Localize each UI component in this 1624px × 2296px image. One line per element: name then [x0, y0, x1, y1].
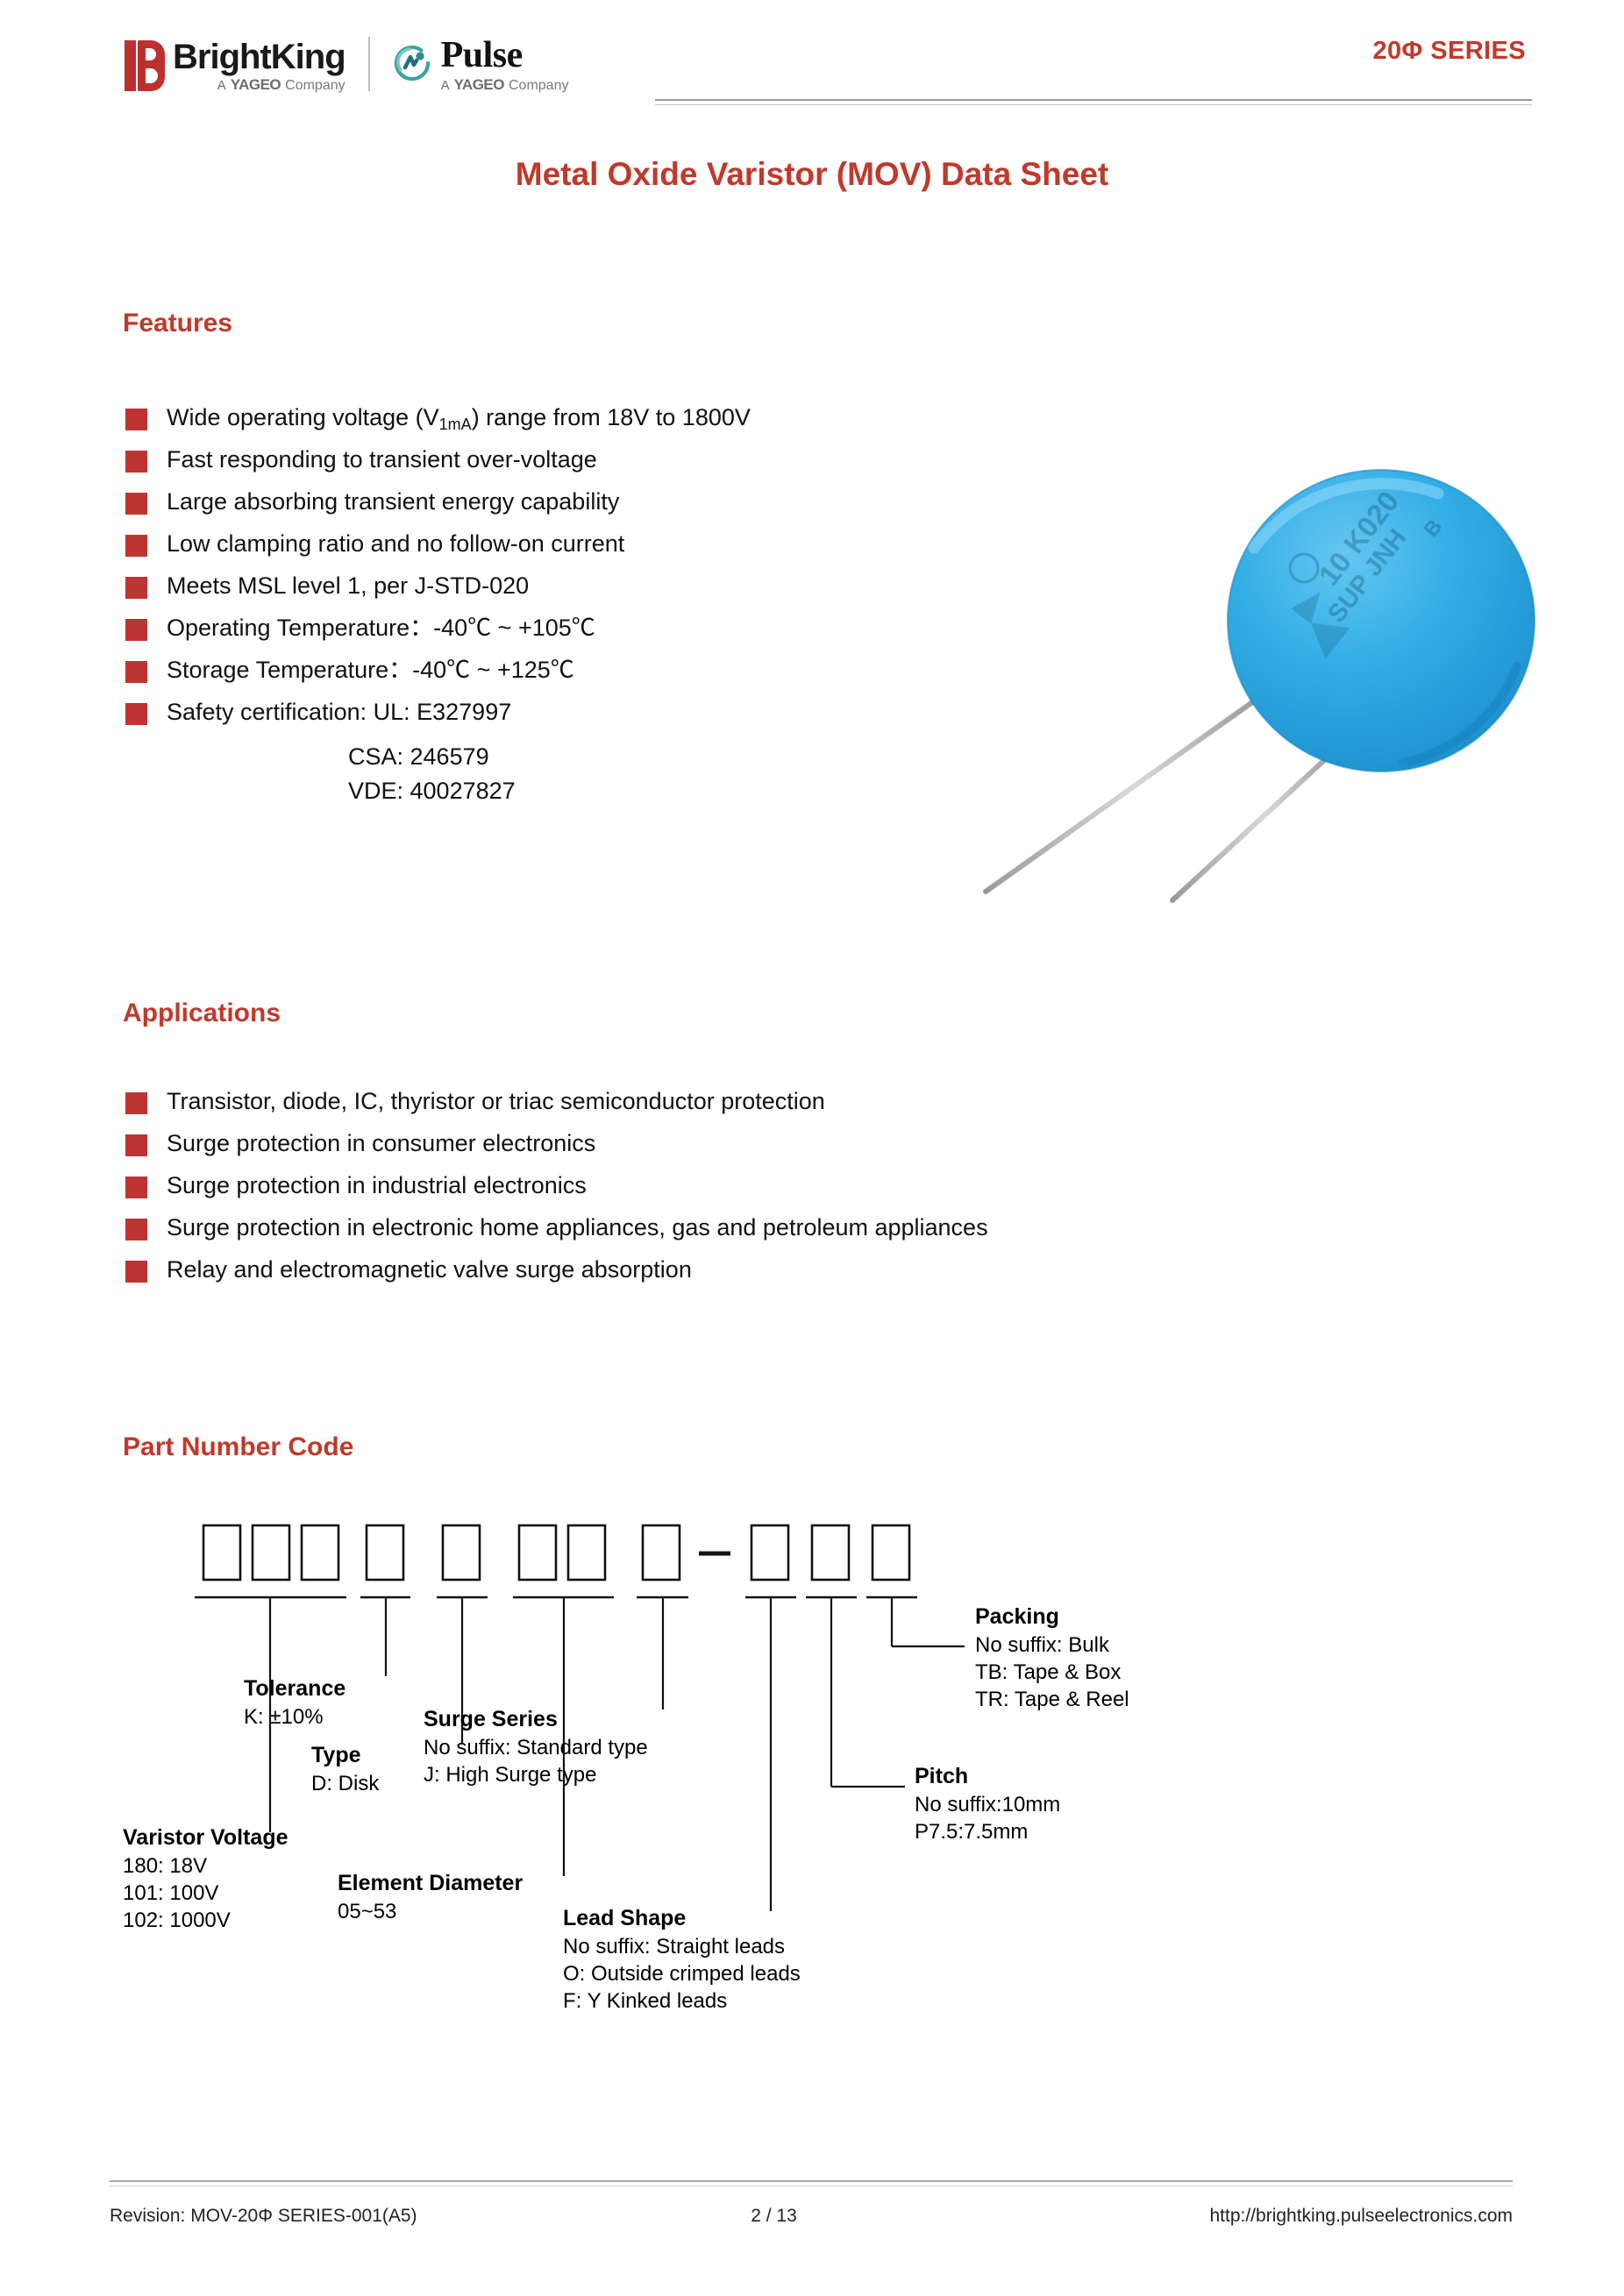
- footer-divider-line: [110, 2180, 1513, 2182]
- product-photo-varistor: 10 K020 SUP JNH B: [956, 465, 1596, 942]
- footer-divider-line-secondary: [110, 2186, 1513, 2186]
- brightking-yageo-badge: YAGEO: [231, 76, 281, 94]
- pulse-name: Pulse: [441, 39, 569, 74]
- bullet-square-icon: [125, 577, 147, 599]
- certification-csa: CSA: 246579: [348, 740, 751, 774]
- page-header: BrightKing A YAGEO Company Pu: [0, 0, 1624, 132]
- brightking-name: BrightKing: [173, 40, 345, 74]
- callout-surge-series: Surge Series No suffix: Standard type J:…: [424, 1705, 648, 1788]
- bullet-square-icon: [125, 1219, 147, 1240]
- feature-text: Safety certification: UL: E327997: [167, 698, 511, 727]
- bullet-square-icon: [125, 1134, 147, 1156]
- brightking-logo: BrightKing A YAGEO Company: [125, 40, 345, 94]
- pulse-yageo-line: A YAGEO Company: [441, 76, 569, 94]
- pulse-yageo-company: Company: [509, 78, 568, 94]
- page-title: Metal Oxide Varistor (MOV) Data Sheet: [0, 156, 1624, 193]
- list-item: Surge protection in consumer electronics: [125, 1129, 988, 1164]
- list-item: Low clamping ratio and no follow-on curr…: [125, 530, 751, 565]
- footer-page-number: 2 / 13: [751, 2206, 797, 2227]
- logo-group: BrightKing A YAGEO Company Pu: [125, 37, 568, 94]
- bullet-square-icon: [125, 409, 147, 430]
- pulse-logo: Pulse A YAGEO Company: [389, 39, 569, 94]
- part-number-code-heading: Part Number Code: [123, 1432, 353, 1462]
- feature-text: Operating Temperature：-40℃ ~ +105℃: [167, 614, 595, 643]
- feature-text: Fast responding to transient over-voltag…: [167, 445, 597, 474]
- part-number-code-diagram: Varistor Voltage 180: 18V 101: 100V 102:…: [0, 1490, 1624, 2157]
- list-item: Meets MSL level 1, per J-STD-020: [125, 572, 751, 607]
- list-item: Surge protection in industrial electroni…: [125, 1171, 988, 1206]
- application-text: Surge protection in industrial electroni…: [167, 1171, 587, 1200]
- pulse-yageo-badge: YAGEO: [454, 76, 504, 94]
- callout-varistor-voltage: Varistor Voltage 180: 18V 101: 100V 102:…: [123, 1823, 288, 1934]
- bullet-square-icon: [125, 619, 147, 641]
- callout-tolerance: Tolerance K: ±10%: [244, 1674, 345, 1731]
- applications-heading: Applications: [123, 999, 281, 1028]
- pulse-wordmark: Pulse A YAGEO Company: [441, 39, 569, 94]
- callout-packing: Packing No suffix: Bulk TB: Tape & Box T…: [975, 1603, 1129, 1713]
- feature-text: Large absorbing transient energy capabil…: [167, 487, 619, 516]
- application-text: Relay and electromagnetic valve surge ab…: [167, 1255, 692, 1284]
- pulse-yageo-a: A: [441, 78, 450, 93]
- feature-text: Storage Temperature：-40℃ ~ +125℃: [167, 656, 574, 685]
- list-item: Transistor, diode, IC, thyristor or tria…: [125, 1087, 988, 1122]
- page-footer: Revision: MOV-20Φ SERIES-001(A5) 2 / 13 …: [110, 2206, 1513, 2227]
- callout-lead-shape: Lead Shape No suffix: Straight leads O: …: [563, 1904, 801, 2015]
- callout-pitch: Pitch No suffix:10mm P7.5:7.5mm: [915, 1762, 1060, 1845]
- list-item: Relay and electromagnetic valve surge ab…: [125, 1255, 988, 1290]
- list-item: Safety certification: UL: E327997: [125, 698, 751, 733]
- callout-element-diameter: Element Diameter 05~53: [338, 1869, 523, 1925]
- bullet-square-icon: [125, 661, 147, 683]
- brightking-yageo-company: Company: [285, 78, 345, 94]
- brightking-wordmark: BrightKing A YAGEO Company: [173, 40, 345, 94]
- footer-url[interactable]: http://brightking.pulseelectronics.com: [1209, 2206, 1513, 2227]
- datasheet-page: BrightKing A YAGEO Company Pu: [0, 0, 1624, 2296]
- series-label: 20Φ SERIES: [1373, 37, 1527, 66]
- features-list: Wide operating voltage (V1mA) range from…: [125, 403, 751, 809]
- logo-divider: [368, 37, 370, 91]
- brightking-yageo-a: A: [217, 78, 226, 93]
- feature-text: Low clamping ratio and no follow-on curr…: [167, 530, 624, 558]
- applications-list: Transistor, diode, IC, thyristor or tria…: [125, 1087, 988, 1297]
- bullet-square-icon: [125, 493, 147, 515]
- feature-text: Meets MSL level 1, per J-STD-020: [167, 572, 529, 601]
- list-item: Storage Temperature：-40℃ ~ +125℃: [125, 656, 751, 691]
- bullet-square-icon: [125, 1261, 147, 1283]
- footer-revision: Revision: MOV-20Φ SERIES-001(A5): [110, 2206, 417, 2227]
- bullet-square-icon: [125, 1176, 147, 1198]
- callout-type: Type D: Disk: [311, 1741, 379, 1797]
- features-heading: Features: [123, 309, 232, 338]
- list-item: Operating Temperature：-40℃ ~ +105℃: [125, 614, 751, 649]
- brightking-yageo-line: A YAGEO Company: [173, 76, 345, 94]
- brightking-b-mark-icon: [125, 40, 165, 91]
- pulse-swirl-icon: [389, 40, 435, 86]
- list-item: Large absorbing transient energy capabil…: [125, 487, 751, 522]
- certification-vde: VDE: 40027827: [348, 774, 751, 808]
- bullet-square-icon: [125, 703, 147, 725]
- application-text: Transistor, diode, IC, thyristor or tria…: [167, 1087, 825, 1116]
- application-text: Surge protection in electronic home appl…: [167, 1213, 988, 1242]
- list-item: Surge protection in electronic home appl…: [125, 1213, 988, 1248]
- list-item: Fast responding to transient over-voltag…: [125, 445, 751, 480]
- feature-text: Wide operating voltage (V1mA) range from…: [167, 403, 751, 432]
- header-divider-line-secondary: [655, 104, 1532, 105]
- list-item: Wide operating voltage (V1mA) range from…: [125, 403, 751, 438]
- bullet-square-icon: [125, 535, 147, 557]
- bullet-square-icon: [125, 451, 147, 473]
- header-divider-line: [655, 99, 1532, 101]
- application-text: Surge protection in consumer electronics: [167, 1129, 595, 1158]
- bullet-square-icon: [125, 1092, 147, 1114]
